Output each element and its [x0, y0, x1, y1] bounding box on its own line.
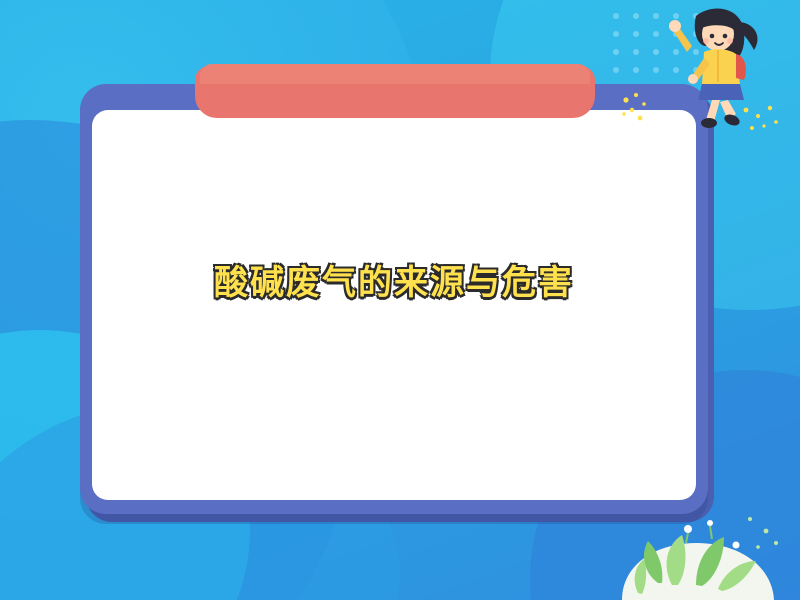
title-block: 酸碱废气的来源与危害	[92, 255, 696, 304]
slide-canvas: 酸碱废气的来源与危害	[0, 0, 800, 600]
tab-header-highlight	[200, 64, 590, 84]
page-title: 酸碱废气的来源与危害	[92, 255, 696, 304]
cartoon-girl-illustration	[640, 2, 770, 137]
card-surface	[92, 110, 696, 500]
grass-plant-illustration	[600, 485, 790, 600]
